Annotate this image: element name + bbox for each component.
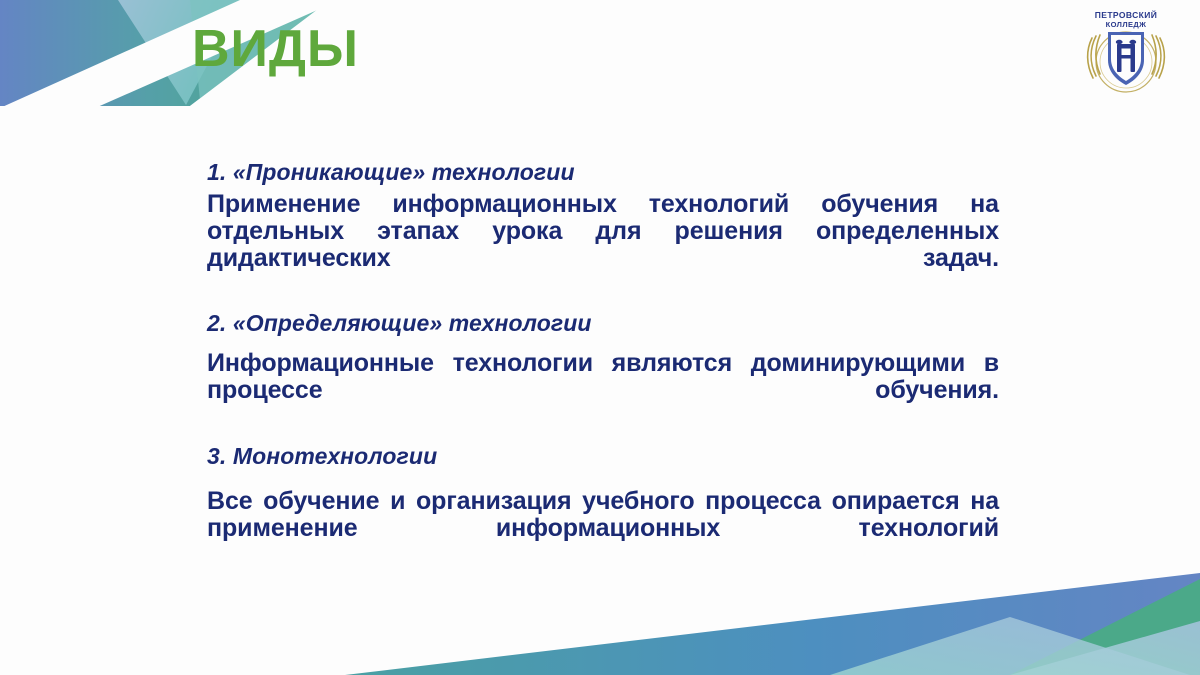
list-item: 2. «Определяющие» технологии Информацион… <box>207 309 999 430</box>
petrovsky-college-logo: ПЕТРОВСКИЙ КОЛЛЕДЖ <box>1070 4 1182 100</box>
svg-text:ПЕТРОВСКИЙ: ПЕТРОВСКИЙ <box>1095 9 1158 20</box>
item-body: Информационные технологии являются домин… <box>207 350 999 430</box>
item-heading: 3. Монотехнологии <box>207 442 999 470</box>
page-title: ВИДЫ <box>192 22 359 77</box>
slide-canvas: ВИДЫ ПЕТРОВСКИЙ КОЛЛЕДЖ <box>0 0 1200 675</box>
slide-body: 1. «Проникающие» технологии Применение и… <box>207 158 999 569</box>
decoration-bottom-right <box>0 555 1200 675</box>
item-heading: 2. «Определяющие» технологии <box>207 309 999 337</box>
item-body: Применение информационных технологий обу… <box>207 191 999 298</box>
item-body: Все обучение и организация учебного проц… <box>207 488 999 568</box>
item-heading: 1. «Проникающие» технологии <box>207 158 999 186</box>
list-item: 3. Монотехнологии Все обучение и организ… <box>207 442 999 568</box>
svg-text:КОЛЛЕДЖ: КОЛЛЕДЖ <box>1106 20 1147 29</box>
list-item: 1. «Проникающие» технологии Применение и… <box>207 158 999 298</box>
